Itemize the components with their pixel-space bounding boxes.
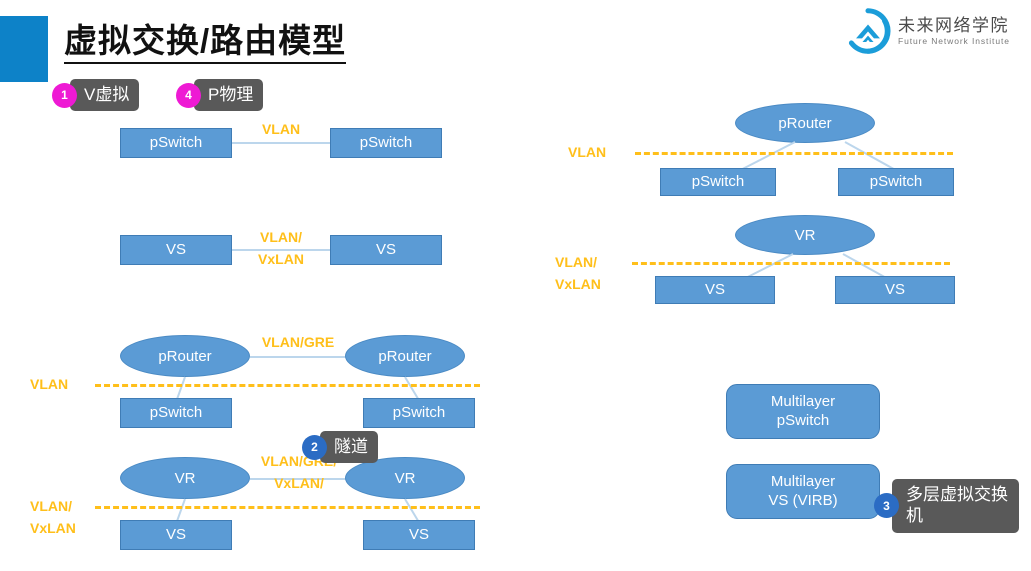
node-vs-tr-left[interactable]: VS xyxy=(655,276,775,304)
callout-3-multilayer-vswitch[interactable]: 3 多层虚拟交换机 xyxy=(874,479,1019,533)
tag-vlan-row1: VLAN xyxy=(232,120,330,138)
callout-2-tunnel[interactable]: 2 隧道 xyxy=(302,431,378,463)
node-vs-tr-right[interactable]: VS xyxy=(835,276,955,304)
node-vs-bl-right[interactable]: VS xyxy=(363,520,475,550)
multilayer-pswitch-line2: pSwitch xyxy=(777,412,830,431)
brand-logo: 未来网络学院 Future Network Institute xyxy=(845,8,1010,54)
node-pswitch-left[interactable]: pSwitch xyxy=(120,128,232,158)
page-title: 虚拟交换/路由模型 xyxy=(64,22,346,64)
node-vs-right[interactable]: VS xyxy=(330,235,442,265)
circle-chevron-logo-icon xyxy=(845,8,891,54)
logo-name-cn: 未来网络学院 xyxy=(898,17,1010,34)
callout-4-p-physical[interactable]: 4 P物理 xyxy=(176,79,263,111)
slide-canvas: 虚拟交换/路由模型 未来网络学院 Future Network Institut… xyxy=(0,0,1031,571)
node-multilayer-vs-virb[interactable]: Multilayer VS (VIRB) xyxy=(726,464,880,519)
link-pswitch-pswitch xyxy=(232,142,330,144)
node-pswitch-right[interactable]: pSwitch xyxy=(330,128,442,158)
callout-2-number: 2 xyxy=(302,435,327,460)
layer-divider-vxlan-left xyxy=(95,506,480,509)
multilayer-pswitch-line1: Multilayer xyxy=(771,393,835,412)
node-vs-bl-left[interactable]: VS xyxy=(120,520,232,550)
node-pswitch-tr-right[interactable]: pSwitch xyxy=(838,168,954,196)
layer-divider-vlan-left xyxy=(95,384,480,387)
tag-vxlan-row2-line2: VxLAN xyxy=(232,250,330,268)
node-pswitch-bl-right[interactable]: pSwitch xyxy=(363,398,475,428)
tag-layer-vlan-left-2-line1: VLAN/ xyxy=(30,497,72,515)
tag-layer-vlan-left: VLAN xyxy=(30,375,68,393)
callout-4-number: 4 xyxy=(176,83,201,108)
callout-4-label: P物理 xyxy=(194,79,263,111)
callout-2-label: 隧道 xyxy=(320,431,378,463)
callout-1-v-virtual[interactable]: 1 V虚拟 xyxy=(52,79,139,111)
node-vs-left[interactable]: VS xyxy=(120,235,232,265)
logo-name-en: Future Network Institute xyxy=(898,37,1010,46)
layer-divider-vlan-right xyxy=(635,152,953,155)
accent-square xyxy=(0,16,48,82)
tag-layer-vxlan-left-2-line2: VxLAN xyxy=(30,519,76,537)
layer-divider-vxlan-right xyxy=(632,262,950,265)
node-pswitch-tr-left[interactable]: pSwitch xyxy=(660,168,776,196)
multilayer-vs-line2: VS (VIRB) xyxy=(768,492,837,511)
node-multilayer-pswitch[interactable]: Multilayer pSwitch xyxy=(726,384,880,439)
tag-layer-vlan-right-2-line1: VLAN/ xyxy=(555,253,597,271)
callout-1-number: 1 xyxy=(52,83,77,108)
tag-layer-vxlan-right-2-line2: VxLAN xyxy=(555,275,601,293)
callout-3-label: 多层虚拟交换机 xyxy=(892,479,1019,533)
node-pswitch-bl-left[interactable]: pSwitch xyxy=(120,398,232,428)
tag-vlan-row2-line1: VLAN/ xyxy=(232,228,330,246)
callout-1-label: V虚拟 xyxy=(70,79,139,111)
tag-layer-vlan-right: VLAN xyxy=(568,143,606,161)
multilayer-vs-line1: Multilayer xyxy=(771,473,835,492)
